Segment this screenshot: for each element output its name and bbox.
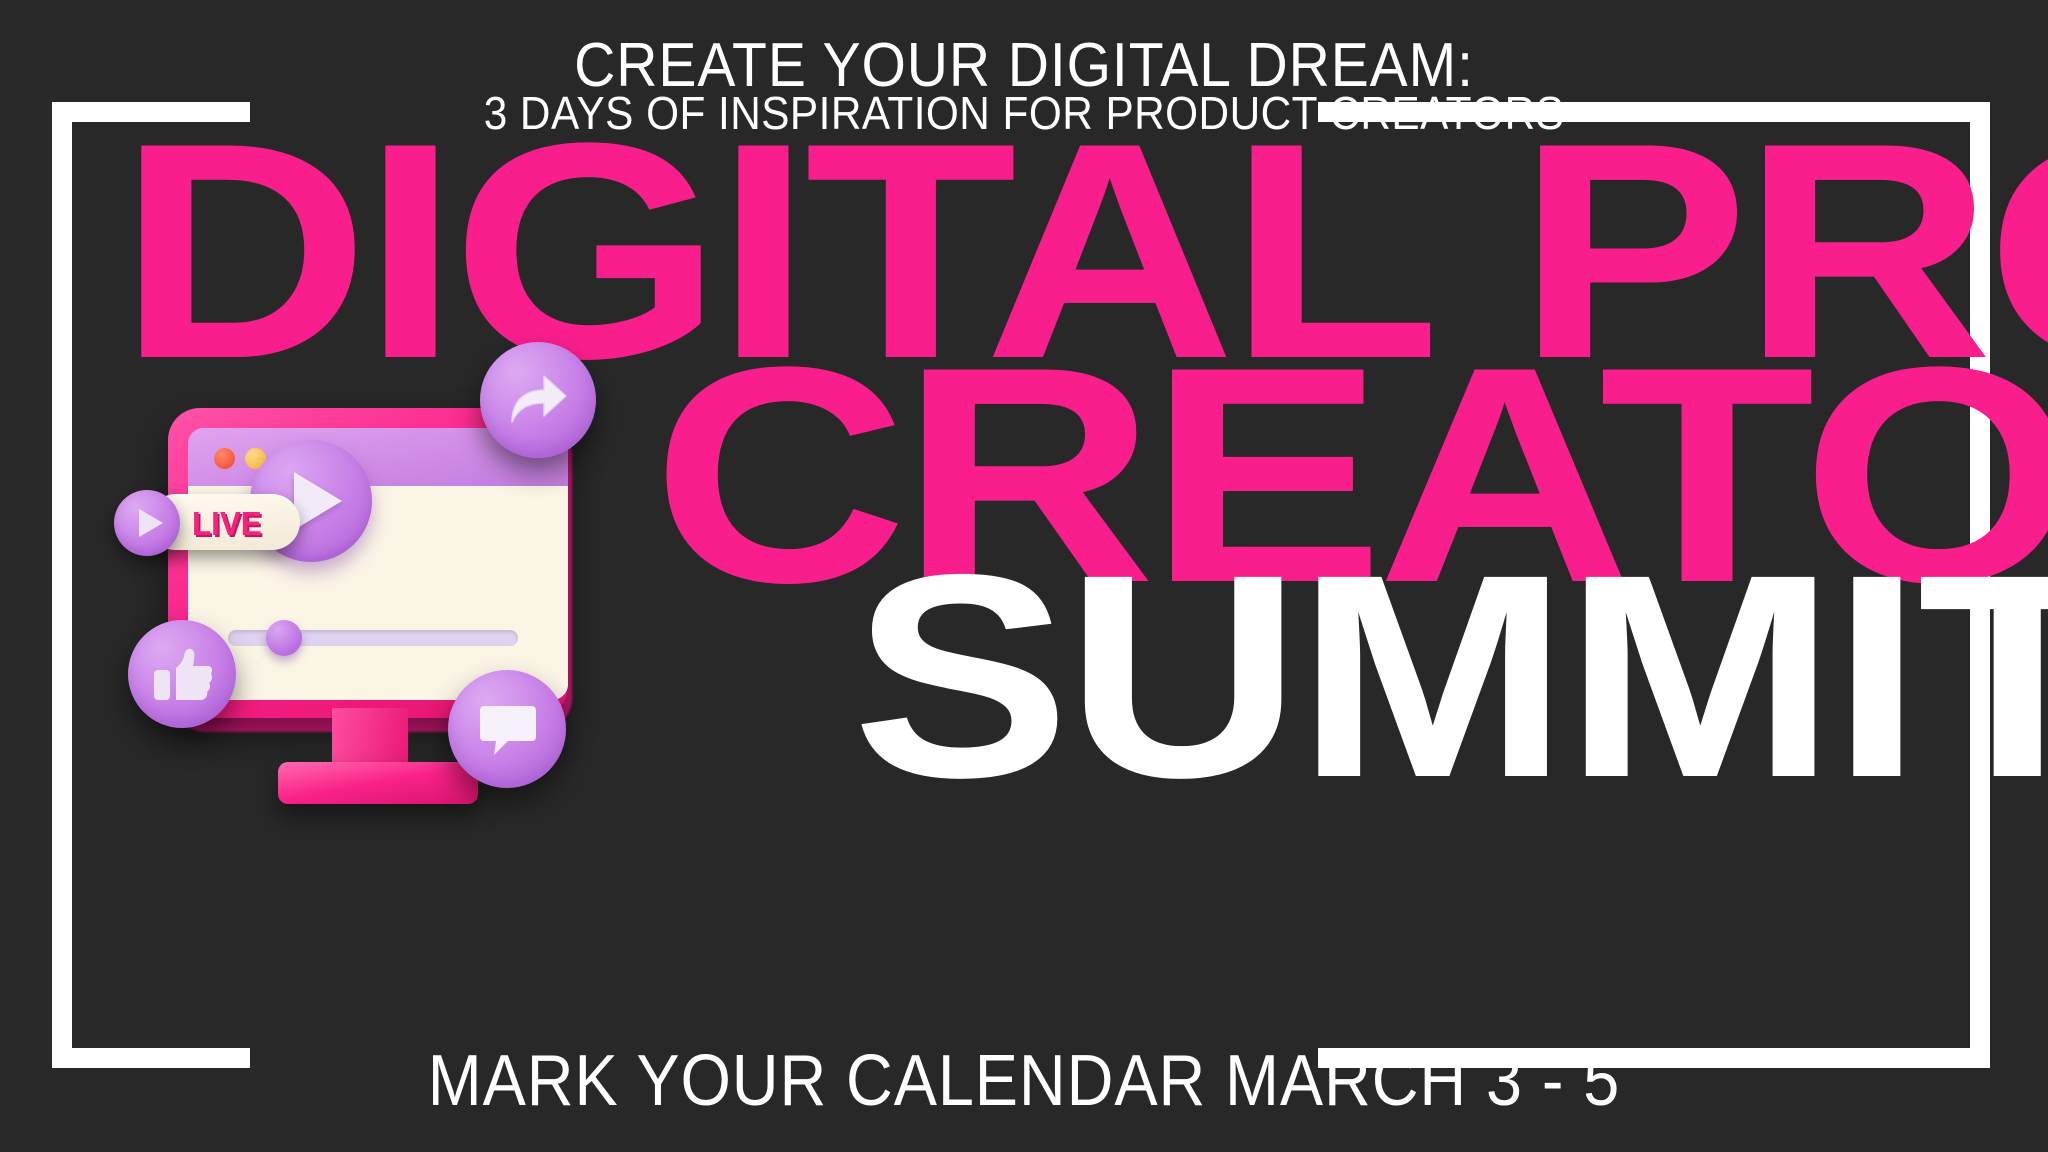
progress-slider-knob[interactable]	[266, 620, 302, 656]
monitor-screen	[188, 428, 568, 700]
thumbs-up-icon	[152, 646, 214, 704]
share-button[interactable]	[480, 342, 596, 458]
monitor-stand-base	[278, 762, 478, 804]
monitor-stand-neck	[332, 708, 408, 770]
frame-top-left-vertical	[52, 102, 72, 820]
comment-button[interactable]	[448, 670, 566, 788]
share-icon	[508, 372, 568, 428]
frame-bottom-right-vertical	[1970, 802, 1990, 1068]
frame-bottom-left-vertical	[52, 802, 72, 1068]
like-button[interactable]	[128, 620, 236, 728]
live-label: LIVE	[192, 505, 262, 543]
live-play-knob[interactable]	[114, 490, 180, 556]
close-dot[interactable]	[214, 448, 235, 469]
headline-line-3: SUMMIT	[852, 560, 2048, 792]
video-monitor-illustration: LIVE	[110, 330, 630, 860]
promo-banner: CREATE YOUR DIGITAL DREAM: 3 DAYS OF INS…	[0, 0, 2048, 1152]
call-to-action-text: MARK YOUR CALENDAR MARCH 3 - 5	[102, 1040, 1945, 1122]
comment-icon	[478, 700, 538, 758]
